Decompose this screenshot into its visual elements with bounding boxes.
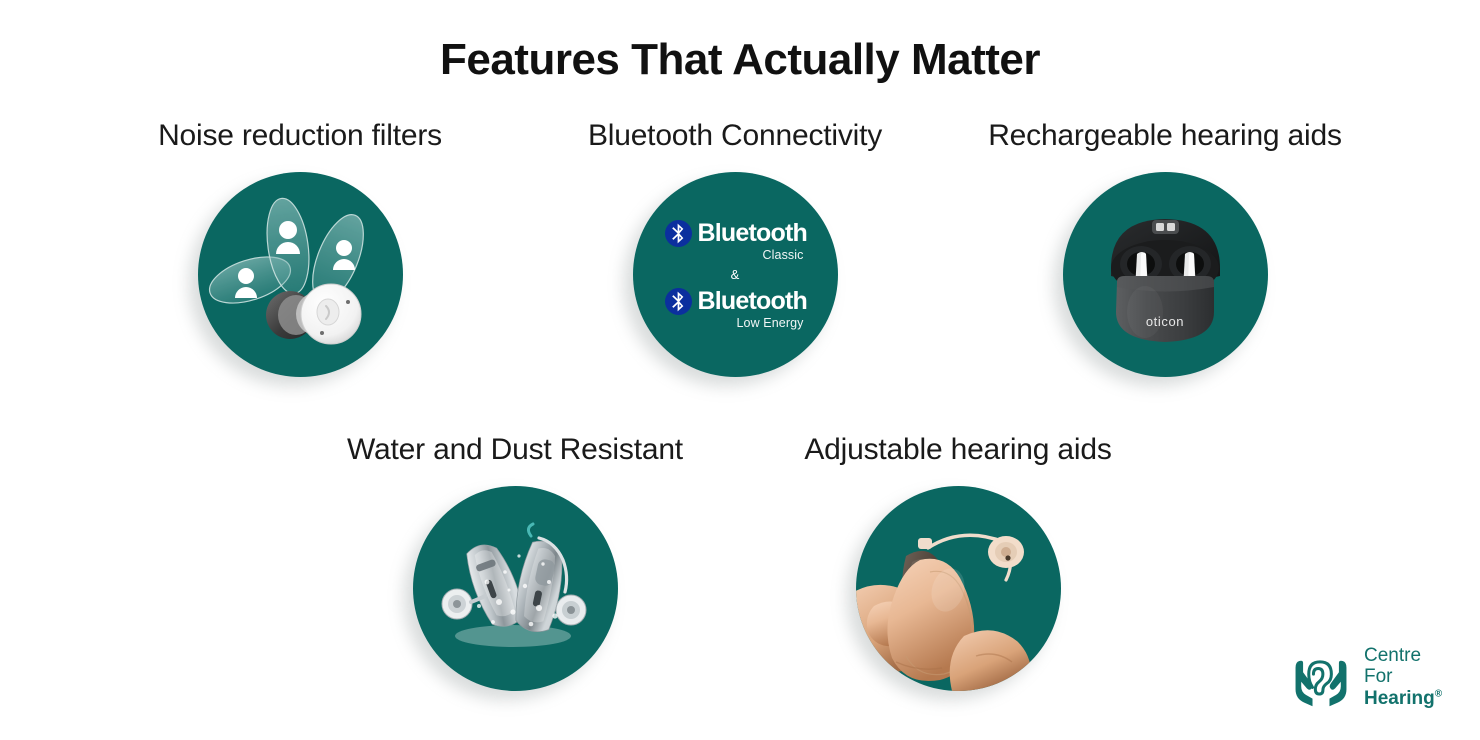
bluetooth-classic-subtitle: Classic <box>665 249 806 262</box>
page-title: Features That Actually Matter <box>0 36 1480 84</box>
bluetooth-low-energy-logo: Bluetooth Low Energy <box>665 288 806 330</box>
brand-line-2: For <box>1364 666 1442 687</box>
charging-case-icon: oticon <box>1063 172 1268 377</box>
hands-cradling-ear-icon <box>1288 644 1354 710</box>
feature-label-bluetooth-connectivity: Bluetooth Connectivity <box>515 118 955 154</box>
feature-image-water-and-dust-resistant <box>413 486 618 691</box>
waterproof-hearing-aids-icon <box>413 486 618 691</box>
brand-line-1: Centre <box>1364 645 1442 666</box>
feature-image-adjustable-hearing-aids <box>856 486 1061 691</box>
feature-card-adjustable-hearing-aids: Adjustable hearing aids <box>738 432 1178 691</box>
product-brand-label: oticon <box>1145 314 1183 329</box>
feature-card-rechargeable-hearing-aids: Rechargeable hearing aids <box>945 118 1385 377</box>
feature-circle <box>856 486 1061 691</box>
bluetooth-ampersand: & <box>731 268 740 281</box>
bluetooth-icon <box>665 220 692 247</box>
registered-trademark-symbol: ® <box>1435 688 1442 699</box>
brand-line-3: Hearing® <box>1364 688 1442 709</box>
feature-card-bluetooth-connectivity: Bluetooth Connectivity Bluetooth Classic <box>515 118 955 377</box>
brand-line-3-text: Hearing <box>1364 688 1435 709</box>
feature-circle <box>413 486 618 691</box>
brand-wordmark: Centre For Hearing® <box>1364 645 1442 709</box>
feature-image-bluetooth-connectivity: Bluetooth Classic & Bluetooth Low <box>633 172 838 377</box>
feature-circle: Bluetooth Classic & Bluetooth Low <box>633 172 838 377</box>
feature-card-water-and-dust-resistant: Water and Dust Resistant <box>295 432 735 691</box>
bluetooth-classic-logo: Bluetooth Classic <box>665 220 806 262</box>
feature-label-rechargeable-hearing-aids: Rechargeable hearing aids <box>945 118 1385 154</box>
bluetooth-low-energy-subtitle: Low Energy <box>665 317 806 330</box>
feature-card-noise-reduction-filters: Noise reduction filters <box>80 118 520 377</box>
feature-image-rechargeable-hearing-aids: oticon <box>1063 172 1268 377</box>
bluetooth-wordmark: Bluetooth <box>698 289 807 314</box>
feature-label-noise-reduction-filters: Noise reduction filters <box>80 118 520 154</box>
feature-label-adjustable-hearing-aids: Adjustable hearing aids <box>738 432 1178 468</box>
bluetooth-logo-stack: Bluetooth Classic & Bluetooth Low <box>633 172 838 377</box>
feature-circle <box>198 172 403 377</box>
brand-logo[interactable]: Centre For Hearing® <box>1288 644 1442 710</box>
bluetooth-wordmark: Bluetooth <box>698 221 807 246</box>
feature-image-noise-reduction-filters <box>198 172 403 377</box>
hand-holding-hearing-aid-icon <box>856 486 1061 691</box>
bluetooth-icon <box>665 288 692 315</box>
noise-reduction-beams-icon <box>198 172 403 377</box>
feature-label-water-and-dust-resistant: Water and Dust Resistant <box>295 432 735 468</box>
feature-circle: oticon <box>1063 172 1268 377</box>
